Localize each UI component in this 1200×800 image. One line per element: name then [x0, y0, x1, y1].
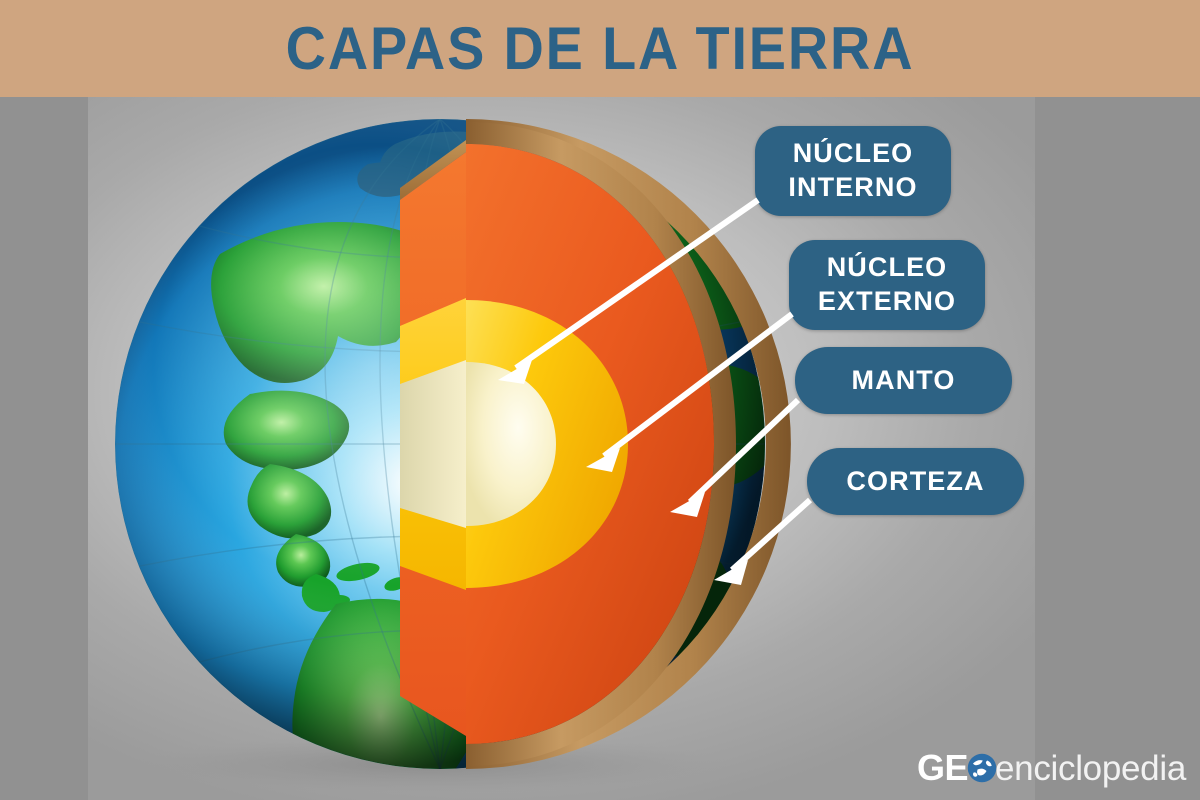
earth-cutaway-illustration: [100, 104, 800, 794]
header-banner: CAPAS DE LA TIERRA: [0, 0, 1200, 97]
label-line-1: NÚCLEO: [827, 252, 948, 282]
label-nucleo-interno[interactable]: NÚCLEO INTERNO: [755, 126, 951, 216]
watermark-logo: GE enciclopedia: [917, 748, 1186, 788]
label-nucleo-externo[interactable]: NÚCLEO EXTERNO: [789, 240, 985, 330]
label-manto[interactable]: MANTO: [795, 347, 1012, 414]
label-line-1: MANTO: [852, 364, 956, 398]
page-title: CAPAS DE LA TIERRA: [286, 19, 915, 79]
label-line-1: CORTEZA: [846, 465, 984, 499]
diagram-page: CAPAS DE LA TIERRA: [0, 0, 1200, 800]
cut-face: [400, 144, 466, 744]
label-line-2: INTERNO: [788, 172, 917, 202]
label-corteza[interactable]: CORTEZA: [807, 448, 1024, 515]
watermark-brand-bold: GE: [917, 750, 968, 786]
watermark-brand-light: enciclopedia: [995, 751, 1186, 786]
globe-icon: [967, 753, 997, 783]
label-line-2: EXTERNO: [818, 286, 956, 316]
label-line-1: NÚCLEO: [793, 138, 914, 168]
